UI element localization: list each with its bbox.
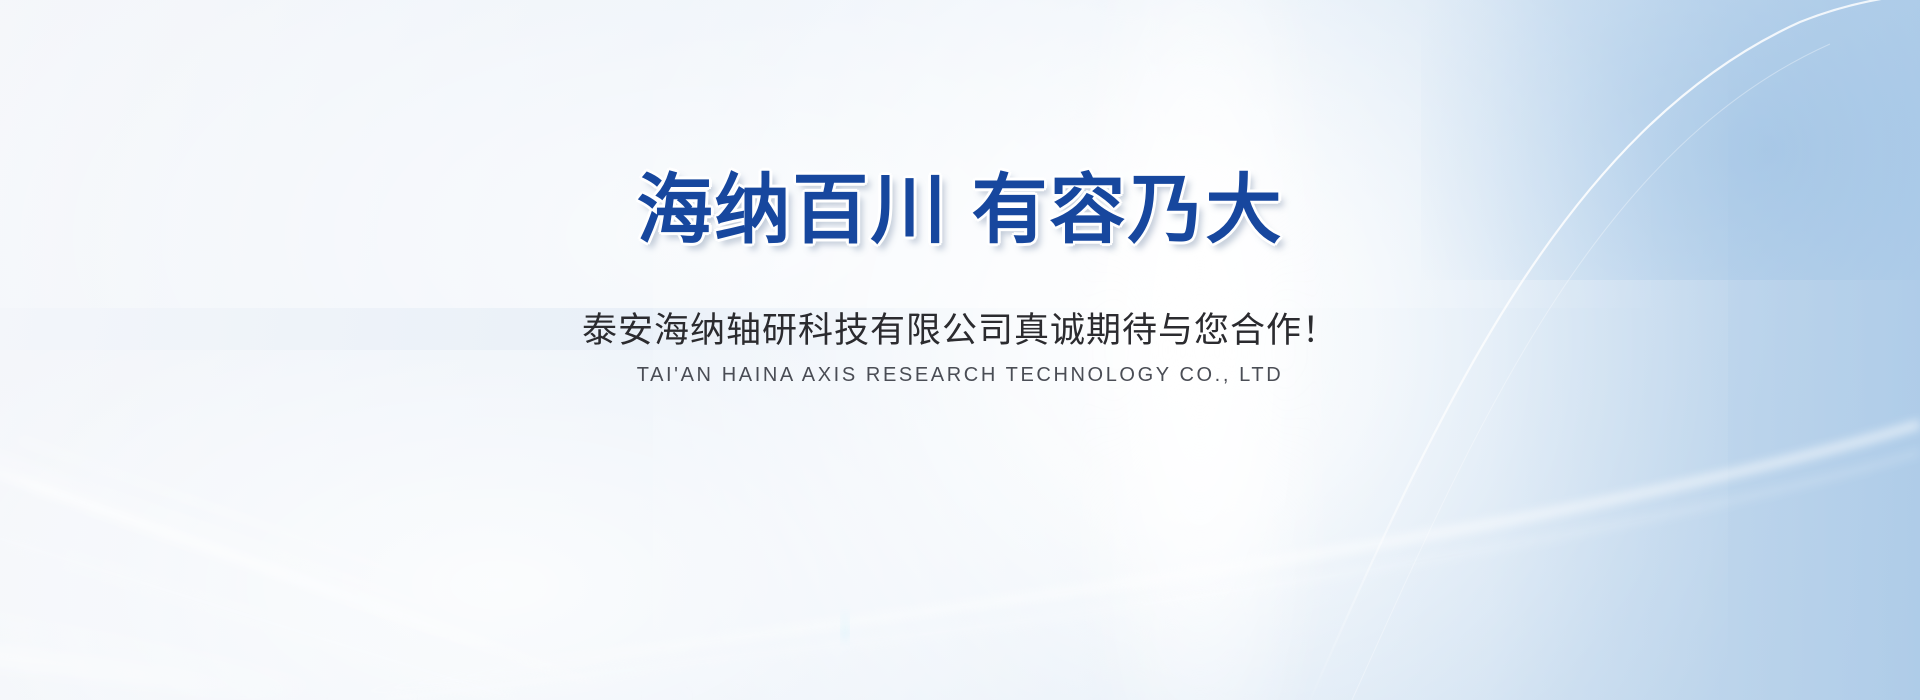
banner-subtitle-en: TAI'AN HAINA AXIS RESEARCH TECHNOLOGY CO… — [0, 362, 1920, 388]
banner-content: 海纳百川 有容乃大 泰安海纳轴研科技有限公司真诚期待与您合作！ TAI'AN H… — [0, 0, 1920, 700]
hero-banner: 海纳百川 有容乃大 泰安海纳轴研科技有限公司真诚期待与您合作！ TAI'AN H… — [0, 0, 1920, 700]
banner-headline: 海纳百川 有容乃大 — [0, 168, 1920, 253]
banner-subtitle-cn: 泰安海纳轴研科技有限公司真诚期待与您合作！ — [0, 309, 1920, 353]
